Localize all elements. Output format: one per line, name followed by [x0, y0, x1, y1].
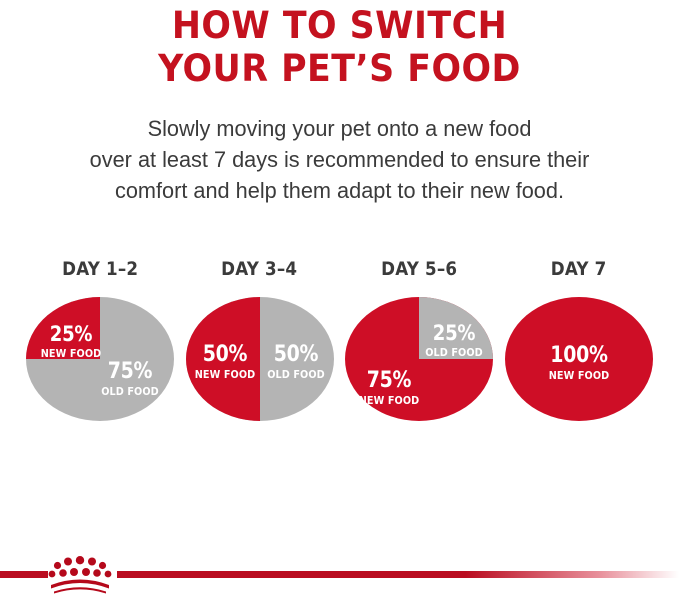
- pie-chart-day-3-4-svg: [186, 297, 334, 421]
- footer-rule-right: [117, 571, 679, 578]
- switch-schedule-steps: DAY 1–2 25% NEW FOOD 75% OLD FOOD DAY 3–…: [0, 258, 679, 438]
- intro-paragraph: Slowly moving your pet onto a new food o…: [0, 113, 679, 206]
- pie-chart-day-5-6: 25% OLD FOOD 75% NEW FOOD: [345, 297, 493, 421]
- royal-canin-crown-icon: [45, 552, 115, 594]
- step-label-day-5-6: DAY 5–6: [381, 258, 457, 280]
- pie-chart-day-7: 100% NEW FOOD: [505, 297, 653, 421]
- step-label-day-7: DAY 7: [551, 258, 607, 280]
- intro-line-2: over at least 7 days is recommended to e…: [12, 144, 667, 175]
- step-day-7: DAY 7 100% NEW FOOD: [503, 258, 655, 438]
- page-title: HOW TO SWITCH YOUR PET’S FOOD: [0, 4, 679, 90]
- crown-icon-svg: [45, 552, 115, 594]
- title-line-2: YOUR PET’S FOOD: [20, 47, 658, 90]
- step-day-1-2: DAY 1–2 25% NEW FOOD 75% OLD FOOD: [24, 258, 176, 438]
- footer-rule-left: [0, 571, 48, 578]
- slice-new-food: [505, 297, 653, 421]
- step-label-day-1-2: DAY 1–2: [62, 258, 138, 280]
- step-day-5-6: DAY 5–6 25% OLD FOOD 75% NEW FOOD: [343, 258, 495, 438]
- slice-old-food: [419, 297, 493, 359]
- title-line-1: HOW TO SWITCH: [20, 4, 658, 47]
- step-label-day-3-4: DAY 3–4: [222, 258, 298, 280]
- step-day-3-4: DAY 3–4 50% NEW FOOD 50% OLD FOOD: [184, 258, 336, 438]
- pie-chart-day-1-2: 25% NEW FOOD 75% OLD FOOD: [26, 297, 174, 421]
- pie-chart-day-3-4: 50% NEW FOOD 50% OLD FOOD: [186, 297, 334, 421]
- intro-line-1: Slowly moving your pet onto a new food: [12, 113, 667, 144]
- pie-chart-day-7-svg: [505, 297, 653, 421]
- pie-chart-day-5-6-svg: [345, 297, 493, 421]
- pie-chart-day-1-2-svg: [26, 297, 174, 421]
- slice-new-food: [26, 297, 100, 359]
- intro-line-3: comfort and help them adapt to their new…: [12, 175, 667, 206]
